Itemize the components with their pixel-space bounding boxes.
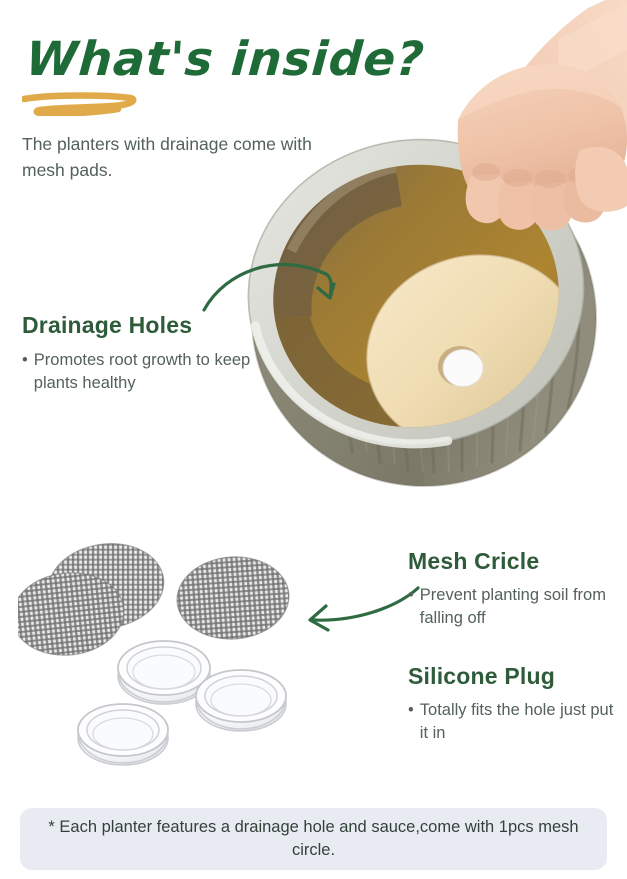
bullet-marker: • — [22, 349, 28, 396]
curved-arrow-left-icon — [292, 578, 424, 640]
bullet-marker: • — [408, 699, 414, 746]
footer-note-text: * Each planter features a drainage hole … — [48, 816, 579, 862]
section-title-drainage: Drainage Holes — [22, 312, 272, 339]
silicone-plug — [78, 704, 168, 765]
bullet-marker: • — [408, 584, 414, 631]
section-mesh-circle: Mesh Cricle • Prevent planting soil from… — [408, 548, 613, 631]
footer-note-panel: * Each planter features a drainage hole … — [20, 808, 607, 870]
title-underline-swoosh — [22, 92, 140, 116]
section-title-mesh: Mesh Cricle — [408, 548, 613, 575]
bullet-text: Promotes root growth to keep plants heal… — [34, 349, 272, 396]
mesh-circle — [174, 553, 291, 643]
section-title-plug: Silicone Plug — [408, 663, 618, 690]
bullet-text: Prevent planting soil from falling off — [420, 584, 613, 631]
section-bullet-plug: • Totally fits the hole just put it in — [408, 699, 618, 746]
infographic-page: What's inside? The planters with drainag… — [0, 0, 627, 879]
section-bullet-mesh: • Prevent planting soil from falling off — [408, 584, 613, 631]
section-bullet-drainage: • Promotes root growth to keep plants he… — [22, 349, 272, 396]
parts-photo — [18, 536, 318, 776]
page-title: What's inside? — [24, 32, 427, 87]
page-subtitle: The planters with drainage come with mes… — [22, 131, 322, 184]
section-drainage-holes: Drainage Holes • Promotes root growth to… — [22, 312, 272, 396]
section-silicone-plug: Silicone Plug • Totally fits the hole ju… — [408, 663, 618, 746]
silicone-plug — [196, 670, 286, 731]
bullet-text: Totally fits the hole just put it in — [420, 699, 618, 746]
